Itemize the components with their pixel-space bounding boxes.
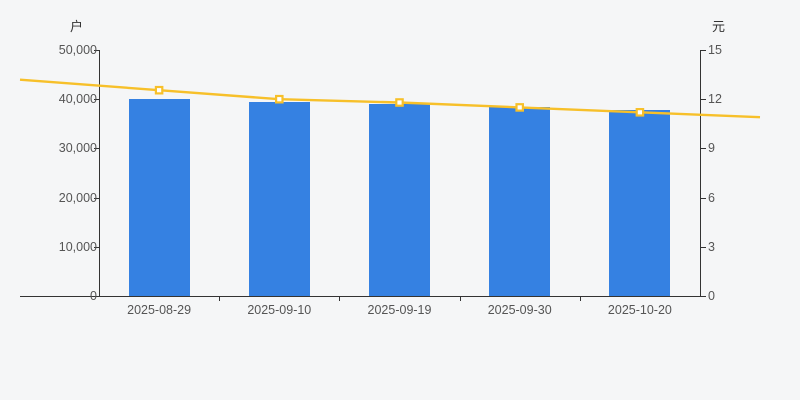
right-tick-label: 3 bbox=[708, 240, 715, 254]
x-axis-label: 2025-10-20 bbox=[608, 303, 672, 317]
x-tick-mark bbox=[339, 296, 340, 301]
left-tick-label: 50,000 bbox=[59, 43, 97, 57]
right-tick-mark bbox=[701, 50, 706, 51]
right-tick-mark bbox=[701, 296, 706, 297]
right-tick-mark bbox=[701, 148, 706, 149]
right-tick-label: 0 bbox=[708, 289, 715, 303]
bar[interactable] bbox=[129, 99, 190, 296]
x-axis-label: 2025-08-29 bbox=[127, 303, 191, 317]
left-y-axis-line bbox=[99, 50, 100, 297]
bar[interactable] bbox=[249, 102, 310, 296]
x-tick-mark bbox=[460, 296, 461, 301]
x-axis-line bbox=[20, 296, 700, 297]
x-tick-mark bbox=[580, 296, 581, 301]
right-y-axis-line bbox=[700, 50, 701, 297]
left-tick-label: 20,000 bbox=[59, 191, 97, 205]
x-axis-label: 2025-09-19 bbox=[368, 303, 432, 317]
right-tick-mark bbox=[701, 198, 706, 199]
bar[interactable] bbox=[609, 110, 670, 296]
right-tick-label: 6 bbox=[708, 191, 715, 205]
right-axis-unit-label: 元 bbox=[712, 16, 725, 35]
right-tick-label: 9 bbox=[708, 141, 715, 155]
right-tick-mark bbox=[701, 99, 706, 100]
line-data-point[interactable] bbox=[156, 87, 162, 93]
left-tick-label: 0 bbox=[90, 289, 97, 303]
left-axis-unit-label: 户 bbox=[70, 16, 83, 35]
right-tick-label: 15 bbox=[708, 43, 722, 57]
x-tick-mark bbox=[219, 296, 220, 301]
left-tick-label: 40,000 bbox=[59, 92, 97, 106]
bar[interactable] bbox=[369, 104, 430, 296]
right-tick-mark bbox=[701, 247, 706, 248]
right-tick-label: 12 bbox=[708, 92, 722, 106]
x-axis-label: 2025-09-30 bbox=[488, 303, 552, 317]
x-axis-label: 2025-09-10 bbox=[247, 303, 311, 317]
stockholder-count-chart: 户 元 010,00020,00030,00040,00050,000 0369… bbox=[0, 0, 800, 400]
left-tick-label: 30,000 bbox=[59, 141, 97, 155]
bar[interactable] bbox=[489, 107, 550, 296]
left-tick-label: 10,000 bbox=[59, 240, 97, 254]
